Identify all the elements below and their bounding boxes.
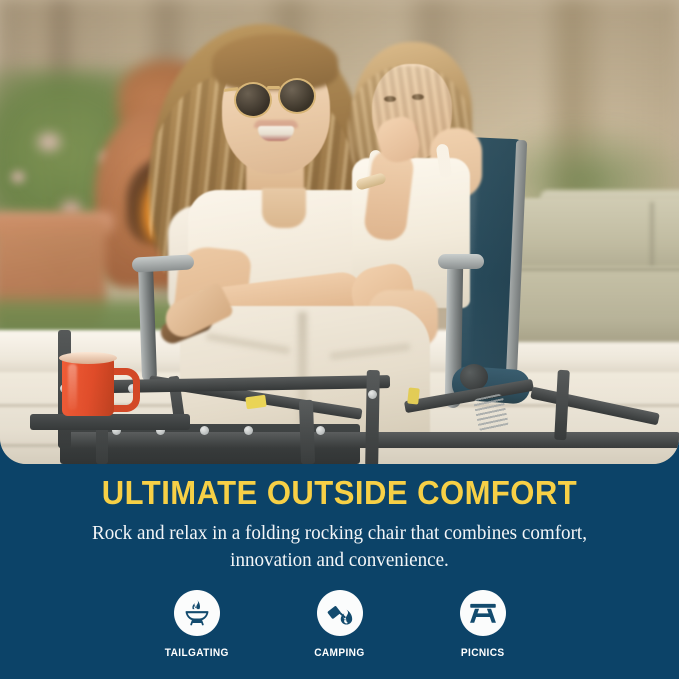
mug-rim xyxy=(59,352,117,364)
chair-rivet xyxy=(316,426,325,435)
chair-pivot-knob xyxy=(460,364,488,390)
cushion-fold xyxy=(650,202,654,274)
pink-flower xyxy=(8,168,28,186)
lifestyle-photo xyxy=(0,0,679,464)
sunglasses-bridge xyxy=(267,86,280,89)
chair-rivet xyxy=(244,426,253,435)
banner-headline: ULTIMATE OUTSIDE COMFORT xyxy=(20,476,658,509)
feature-camping: CAMPING xyxy=(293,590,387,659)
cushion-seam xyxy=(498,268,679,271)
woman-smile xyxy=(258,126,294,141)
chair-armrest-right xyxy=(438,254,484,269)
woman-hair-fringe xyxy=(212,34,338,90)
bbq-grill-icon xyxy=(182,598,212,628)
sunglasses-lens-right xyxy=(278,78,316,114)
product-marketing-image: ULTIMATE OUTSIDE COMFORT Rock and relax … xyxy=(0,0,679,679)
mug-highlight xyxy=(68,364,77,410)
feature-picnics: PICNICS xyxy=(436,590,530,659)
chair-rivet xyxy=(368,390,377,399)
chair-frame-leg xyxy=(299,400,315,464)
warning-tag xyxy=(407,387,420,404)
feature-icon-circle xyxy=(174,590,220,636)
feature-tailgating: TAILGATING xyxy=(150,590,244,659)
woman-neckline xyxy=(262,188,306,228)
feature-icon-circle xyxy=(317,590,363,636)
marketing-banner: ULTIMATE OUTSIDE COMFORT Rock and relax … xyxy=(0,464,679,679)
banner-subcopy: Rock and relax in a folding rocking chai… xyxy=(70,520,608,575)
picnic-table-icon xyxy=(468,598,498,628)
feature-icon-row: TAILGATING CAMPING xyxy=(0,590,679,659)
chair-frame-leg xyxy=(365,370,380,464)
subcopy-line-1: Rock and relax in a folding rocking chai… xyxy=(92,522,517,544)
feature-label-picnics: PICNICS xyxy=(461,647,505,659)
campfire-marshmallow-icon xyxy=(325,598,355,628)
chair-rivet xyxy=(200,426,209,435)
chair-side-table xyxy=(30,414,190,430)
feature-label-camping: CAMPING xyxy=(314,647,364,659)
feature-label-tailgating: TAILGATING xyxy=(164,647,228,659)
pink-flower xyxy=(32,128,66,156)
feature-icon-circle xyxy=(460,590,506,636)
